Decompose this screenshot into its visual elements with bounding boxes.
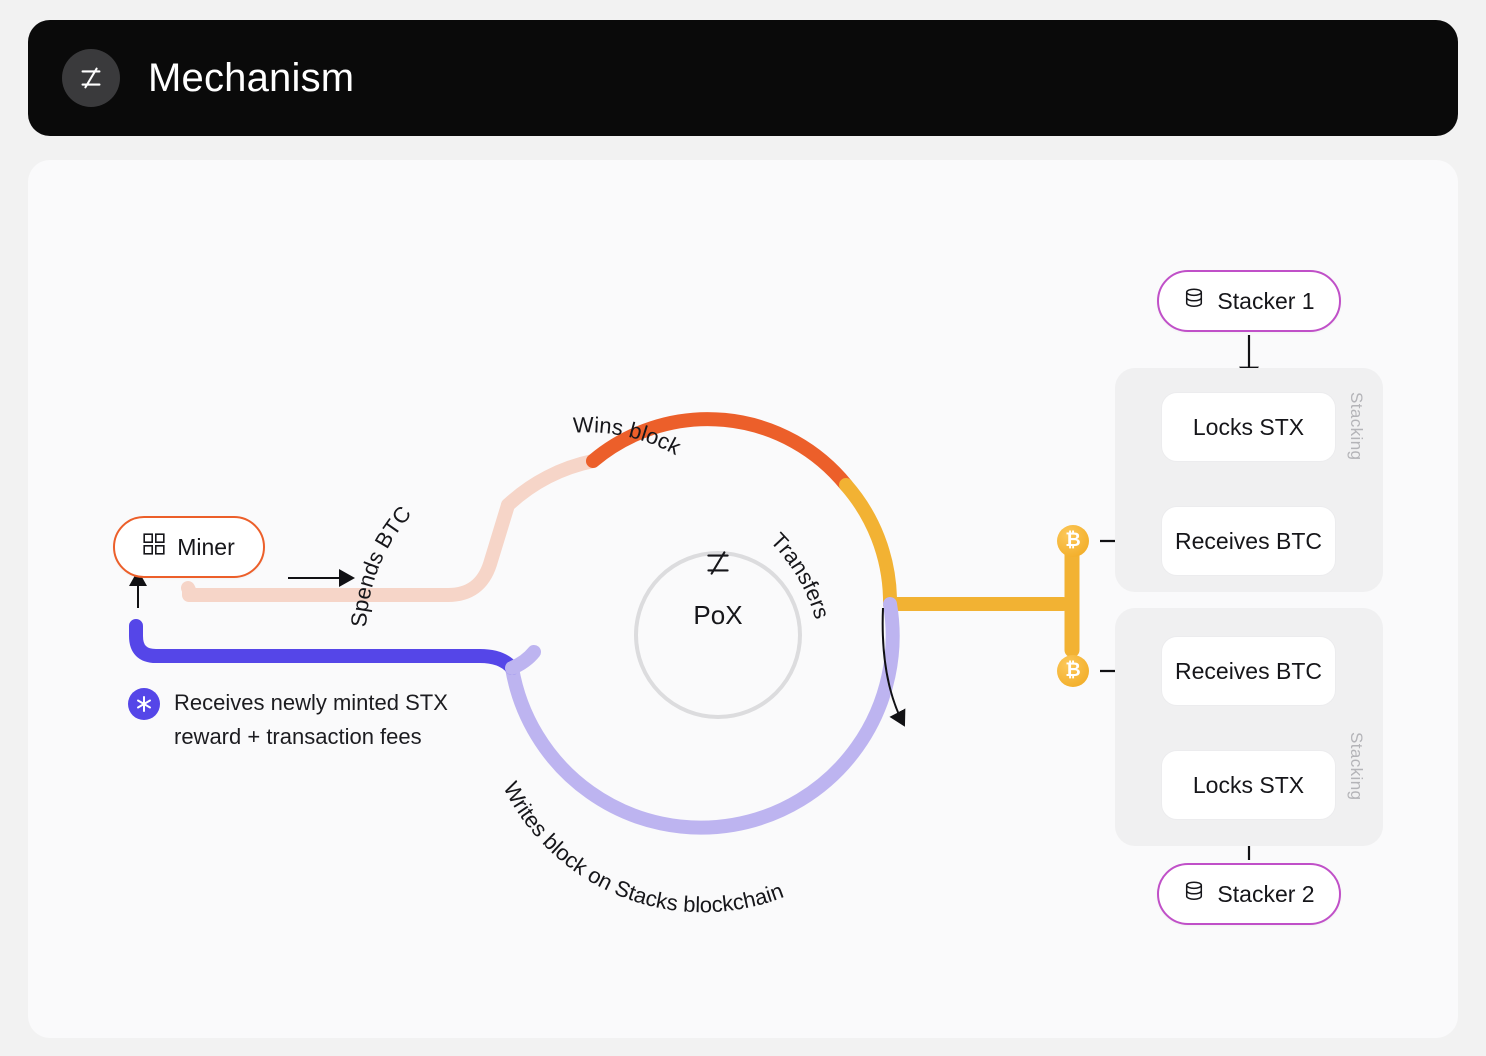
- legend-text: Receives newly minted STX reward + trans…: [174, 686, 448, 754]
- step-receives-btc-1[interactable]: Receives BTC: [1161, 506, 1336, 576]
- node-stacker-1[interactable]: Stacker 1: [1157, 270, 1341, 332]
- bitcoin-coin-icon: ₿: [1057, 525, 1089, 557]
- node-miner-label: Miner: [177, 534, 235, 561]
- page-title: Mechanism: [148, 56, 354, 101]
- writes-block-line: [512, 652, 534, 668]
- bitcoin-coin-icon: ₿: [1057, 655, 1089, 687]
- node-stacker-1-label: Stacker 1: [1217, 288, 1314, 315]
- node-stacker-2[interactable]: Stacker 2: [1157, 863, 1341, 925]
- legend-line-2: reward + transaction fees: [174, 724, 422, 749]
- arc-label-writes-block: Writes block on Stacks blockchain: [499, 777, 787, 917]
- transfers-btc-arc: [846, 485, 890, 604]
- stacking-label-top: Stacking: [1346, 392, 1366, 460]
- stx-asterisk-icon: [128, 688, 160, 720]
- legend-line-1: Receives newly minted STX: [174, 690, 448, 715]
- database-icon: [1183, 880, 1205, 908]
- step-locks-stx-2[interactable]: Locks STX: [1161, 750, 1336, 820]
- step-receives-btc-2[interactable]: Receives BTC: [1161, 636, 1336, 706]
- grid-squares-icon: [143, 533, 165, 561]
- stx-reward-line: [136, 626, 512, 668]
- pox-label: PoX: [638, 600, 798, 631]
- screenshot-root: Mechanism: [0, 0, 1486, 1056]
- diagram-canvas: Spends BTC Wins block Transfers BTC Writ…: [28, 160, 1458, 1038]
- node-stacker-2-label: Stacker 2: [1217, 881, 1314, 908]
- stacking-label-bottom: Stacking: [1346, 732, 1366, 800]
- arc-label-spends-btc: Spends BTC: [346, 501, 416, 628]
- bitcoin-symbol: ₿: [1065, 660, 1080, 682]
- stacks-logo-icon: [62, 49, 120, 107]
- database-icon: [1183, 287, 1205, 315]
- bitcoin-symbol: ₿: [1065, 530, 1080, 552]
- legend-stx-reward: Receives newly minted STX reward + trans…: [128, 686, 448, 754]
- node-miner[interactable]: Miner: [113, 516, 265, 578]
- header-bar: Mechanism: [28, 20, 1458, 136]
- pox-stacks-logo-icon: [638, 546, 798, 580]
- step-locks-stx-1[interactable]: Locks STX: [1161, 392, 1336, 462]
- spends-btc-arc: [508, 461, 593, 505]
